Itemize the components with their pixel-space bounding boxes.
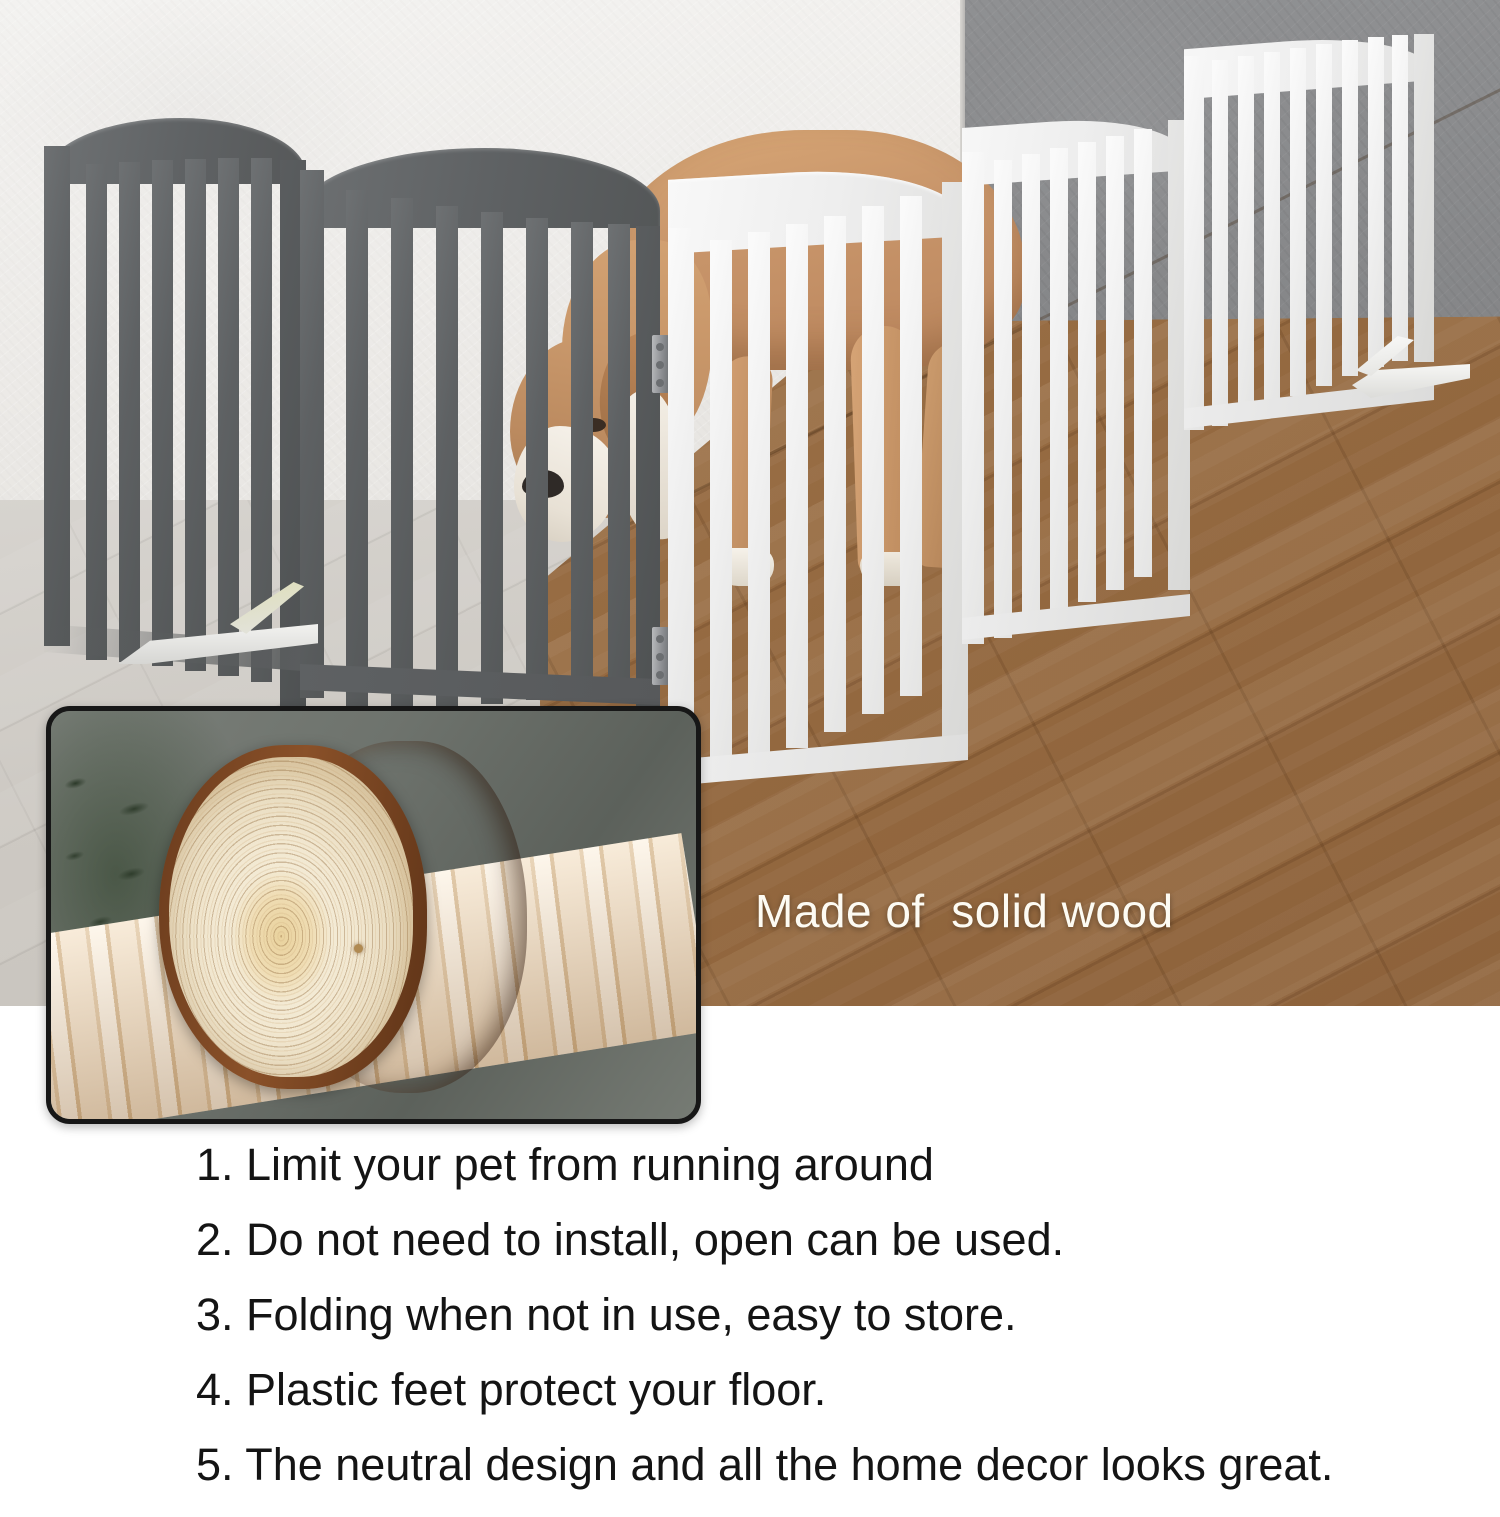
- panel-5-stile-left: [1184, 56, 1204, 430]
- hinge-screw: [656, 379, 664, 387]
- panel-3-slat: [748, 232, 770, 764]
- panel-3-slat: [710, 240, 732, 780]
- hinge-screw: [656, 343, 664, 351]
- panel-3-slat: [786, 224, 808, 748]
- list-item: 2. Do not need to install, open can be u…: [196, 1217, 1486, 1262]
- panel-5-stile-right: [1414, 34, 1434, 362]
- gate-panel-2: [300, 148, 660, 708]
- panel-4-stile-left: [962, 152, 984, 644]
- panel-5-slat: [1342, 40, 1358, 376]
- panel-5-slat: [1392, 35, 1408, 361]
- hinge-screw: [656, 361, 664, 369]
- list-item: 3. Folding when not in use, easy to stor…: [196, 1292, 1486, 1337]
- foot-left-wedge: [118, 624, 318, 664]
- panel-3-stile-left: [668, 228, 694, 782]
- foot-right: [1352, 336, 1470, 398]
- hinge-gray-white: [652, 335, 669, 685]
- panel-1-stile-left: [44, 146, 70, 646]
- panel-2-slat: [571, 222, 593, 696]
- list-item: 5. The neutral design and all the home d…: [196, 1442, 1486, 1487]
- solid-wood-inset-photo: [46, 706, 701, 1124]
- log-growth-rings: [169, 757, 413, 1077]
- made-of-solid-wood-caption: Made of solid wood: [755, 884, 1174, 938]
- panel-3-slat: [824, 216, 846, 732]
- panel-3-slat: [862, 206, 884, 714]
- panel-4-slat: [994, 160, 1012, 638]
- panel-2-slat: [481, 212, 503, 704]
- list-item: 4. Plastic feet protect your floor.: [196, 1367, 1486, 1412]
- hinge-screw: [656, 635, 664, 643]
- panel-4-slat: [1134, 129, 1152, 577]
- panel-2-slat: [608, 224, 630, 692]
- panel-5-slat: [1290, 48, 1306, 396]
- list-item: 1. Limit your pet from running around: [196, 1142, 1486, 1187]
- hinge-screw: [656, 671, 664, 679]
- panel-4-slat: [1106, 136, 1124, 590]
- log-pith-center: [354, 944, 363, 953]
- panel-2-slat: [346, 190, 368, 710]
- panel-2-slat: [391, 198, 413, 710]
- panel-5-slat: [1264, 52, 1280, 406]
- gate-panel-4: [962, 112, 1190, 642]
- panel-5-slat: [1316, 44, 1332, 386]
- panel-1-slat: [86, 164, 107, 660]
- panel-4-slat: [1050, 148, 1068, 614]
- panel-2-slat: [436, 206, 458, 708]
- gate-panel-3: [668, 162, 968, 782]
- panel-4-slat: [1078, 142, 1096, 602]
- hinge-screw: [656, 653, 664, 661]
- panel-2-slat: [526, 218, 548, 700]
- panel-4-slat: [1022, 154, 1040, 626]
- panel-3-slat: [900, 196, 922, 696]
- panel-5-slat: [1368, 37, 1384, 367]
- foot-left: [118, 578, 318, 664]
- panel-5-slat: [1238, 56, 1254, 416]
- panel-5-slat: [1212, 60, 1228, 426]
- log-cross-section: [147, 739, 567, 1099]
- feature-list: 1. Limit your pet from running around 2.…: [196, 1142, 1486, 1517]
